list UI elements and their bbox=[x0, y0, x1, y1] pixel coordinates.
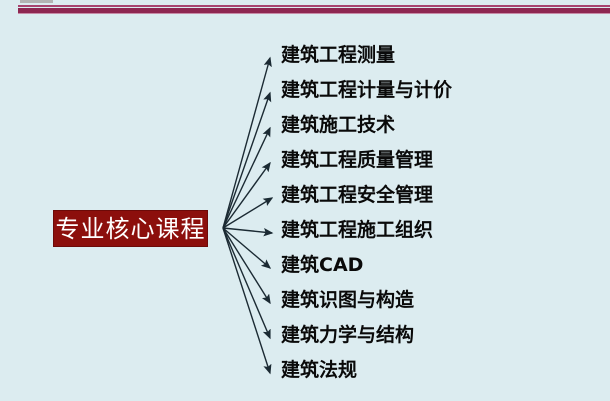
course-item-3: 建筑施工技术 bbox=[281, 108, 601, 143]
arrow-group bbox=[223, 58, 272, 373]
course-item-6: 建筑工程施工组织 bbox=[281, 213, 601, 248]
top-rule-hairline bbox=[18, 13, 610, 14]
course-item-7: 建筑CAD bbox=[281, 248, 601, 283]
core-course-node: 专业核心课程 bbox=[53, 210, 208, 247]
connector-arrow-6 bbox=[223, 228, 272, 233]
course-list: 建筑工程测量 建筑工程计量与计价 建筑施工技术 建筑工程质量管理 建筑工程安全管… bbox=[281, 38, 601, 388]
top-gray-tab bbox=[20, 0, 53, 3]
connector-arrow-3 bbox=[223, 128, 270, 228]
connector-arrow-1 bbox=[223, 58, 270, 228]
course-item-4: 建筑工程质量管理 bbox=[281, 143, 601, 178]
course-item-1: 建筑工程测量 bbox=[281, 38, 601, 73]
course-item-9: 建筑力学与结构 bbox=[281, 318, 601, 353]
course-item-10: 建筑法规 bbox=[281, 353, 601, 388]
course-item-5: 建筑工程安全管理 bbox=[281, 178, 601, 213]
slide-canvas: 专业核心课程 建筑工程测量 建筑工程计量与计价 建筑施工技术 建筑工程质量管理 … bbox=[0, 0, 610, 401]
connector-arrow-5 bbox=[223, 198, 272, 228]
course-item-8: 建筑识图与构造 bbox=[281, 283, 601, 318]
course-item-2: 建筑工程计量与计价 bbox=[281, 73, 601, 108]
connector-arrow-9 bbox=[223, 228, 270, 338]
connector-arrow-7 bbox=[223, 228, 270, 268]
core-course-label: 专业核心课程 bbox=[56, 217, 206, 241]
connector-arrow-4 bbox=[223, 163, 270, 228]
connector-arrow-2 bbox=[223, 93, 270, 228]
top-rule-thin bbox=[18, 5, 610, 7]
connector-arrow-10 bbox=[223, 228, 270, 373]
connector-arrow-8 bbox=[223, 228, 270, 303]
